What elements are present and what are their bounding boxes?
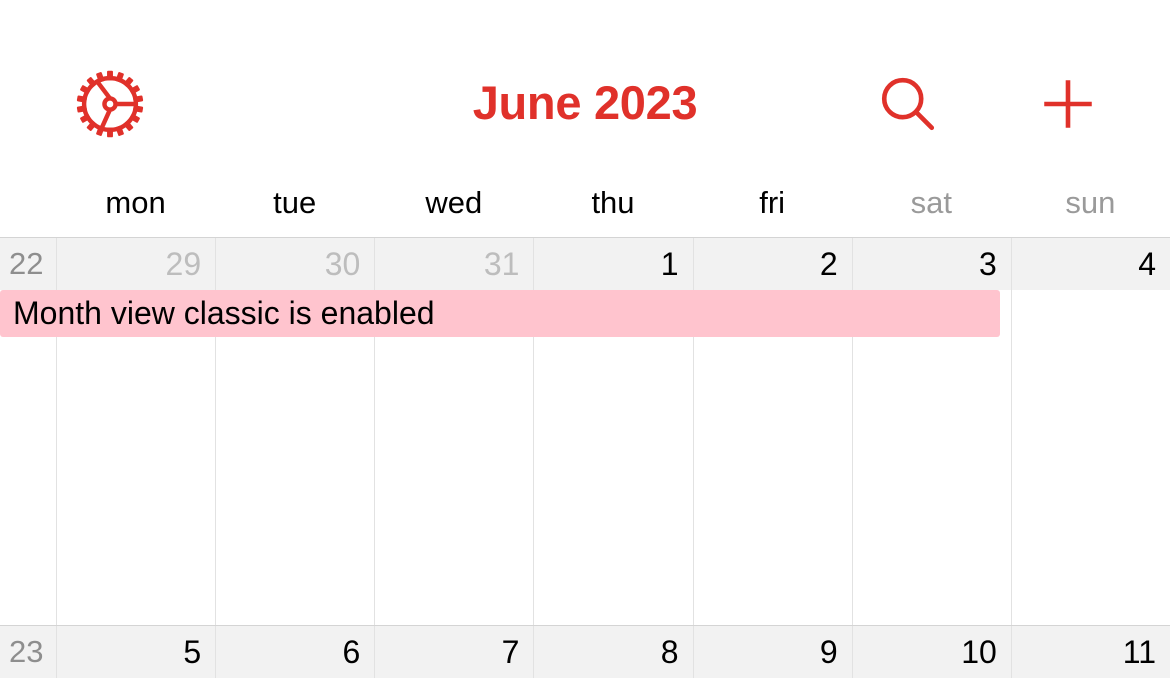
day-cell-header[interactable]: 31 [374,238,533,290]
day-cell[interactable] [852,290,1011,625]
event-title: Month view classic is enabled [0,290,435,337]
day-cell-header[interactable]: 2 [693,238,852,290]
day-cell-header[interactable]: 8 [533,626,692,678]
weekday-sat: sat [852,168,1011,237]
day-number-band: 22 29 30 31 1 2 3 4 [0,237,1170,290]
day-cell-header[interactable]: 7 [374,626,533,678]
month-title: June 2023 [0,72,1170,134]
search-icon [875,71,941,137]
week-number[interactable]: 23 [0,626,56,678]
day-number-band: 23 5 6 7 8 9 10 11 [0,625,1170,678]
day-cell-header[interactable]: 10 [852,626,1011,678]
day-cell[interactable] [693,290,852,625]
plus-icon [1035,71,1101,137]
weeknum-header-spacer [0,168,56,237]
day-cell[interactable] [56,290,215,625]
day-cell-header[interactable]: 1 [533,238,692,290]
add-event-button[interactable] [1022,58,1114,150]
day-cell[interactable] [1011,290,1170,625]
day-cell-header[interactable]: 9 [693,626,852,678]
weekday-header: mon tue wed thu fri sat sun [0,168,1170,237]
day-cell[interactable] [374,290,533,625]
weekday-tue: tue [215,168,374,237]
day-cell-header[interactable]: 4 [1011,238,1170,290]
day-cell-header[interactable]: 29 [56,238,215,290]
day-cell[interactable] [533,290,692,625]
day-cell-header[interactable]: 5 [56,626,215,678]
weekday-thu: thu [533,168,692,237]
weekday-fri: fri [693,168,852,237]
week-row: 22 29 30 31 1 2 3 4 Month view classic i… [0,237,1170,625]
day-cell[interactable] [215,290,374,625]
day-cells-band [0,290,1170,625]
week-number-gutter [0,290,56,625]
toolbar: June 2023 [0,0,1170,168]
week-number[interactable]: 22 [0,238,56,290]
search-button[interactable] [862,58,954,150]
weekday-wed: wed [374,168,533,237]
weekday-mon: mon [56,168,215,237]
day-cell-header[interactable]: 6 [215,626,374,678]
event-chip[interactable]: Month view classic is enabled [0,290,1000,337]
calendar-month-view: June 2023 [0,0,1170,678]
week-row: 23 5 6 7 8 9 10 11 [0,625,1170,678]
weekday-sun: sun [1011,168,1170,237]
day-cell-header[interactable]: 11 [1011,626,1170,678]
day-cell-header[interactable]: 3 [852,238,1011,290]
day-cell-header[interactable]: 30 [215,238,374,290]
